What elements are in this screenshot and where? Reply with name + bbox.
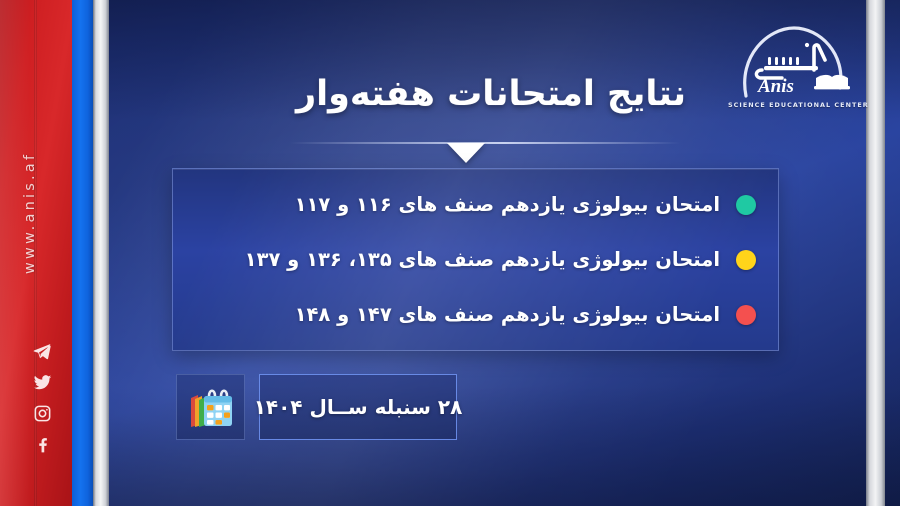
left-rail-white [93, 0, 109, 506]
left-rail-blue [72, 0, 93, 506]
instagram-icon[interactable] [33, 404, 52, 423]
list-item-label: امتحان بیولوژی یازدهم صنف های ۱۴۷ و ۱۴۸ [195, 303, 720, 326]
chevron-down-icon [447, 143, 485, 163]
facebook-icon[interactable] [33, 435, 52, 454]
poster-canvas: www.anis.af [0, 0, 900, 506]
results-list: امتحان بیولوژی یازدهم صنف های ۱۱۶ و ۱۱۷ … [173, 169, 778, 350]
status-dot-yellow [736, 250, 756, 270]
status-dot-teal [736, 195, 756, 215]
calendar-icon-tile [176, 374, 245, 440]
list-item[interactable]: امتحان بیولوژی یازدهم صنف های ۱۴۷ و ۱۴۸ [173, 287, 778, 342]
status-dot-red [736, 305, 756, 325]
social-icon-list [33, 342, 52, 454]
title-divider [290, 142, 680, 144]
list-item[interactable]: امتحان بیولوژی یازدهم صنف های ۱۳۵، ۱۳۶ و… [173, 232, 778, 287]
twitter-icon[interactable] [33, 373, 52, 392]
list-item-label: امتحان بیولوژی یازدهم صنف های ۱۱۶ و ۱۱۷ [195, 193, 720, 216]
date-badge: ۲۸ سنبله ســال ۱۴۰۴ [259, 374, 457, 440]
logo-script-glyphs [756, 43, 825, 78]
list-item[interactable]: امتحان بیولوژی یازدهم صنف های ۱۱۶ و ۱۱۷ [173, 177, 778, 232]
site-url-label: www.anis.af [22, 128, 38, 298]
calendar-icon [185, 384, 237, 430]
page-title: نتایج امتحانات هفته‌وار [110, 74, 872, 114]
results-panel: امتحان بیولوژی یازدهم صنف های ۱۱۶ و ۱۱۷ … [172, 168, 779, 351]
list-item-label: امتحان بیولوژی یازدهم صنف های ۱۳۵، ۱۳۶ و… [195, 248, 720, 271]
date-label: ۲۸ سنبله ســال ۱۴۰۴ [254, 395, 463, 419]
telegram-icon[interactable] [33, 342, 52, 361]
